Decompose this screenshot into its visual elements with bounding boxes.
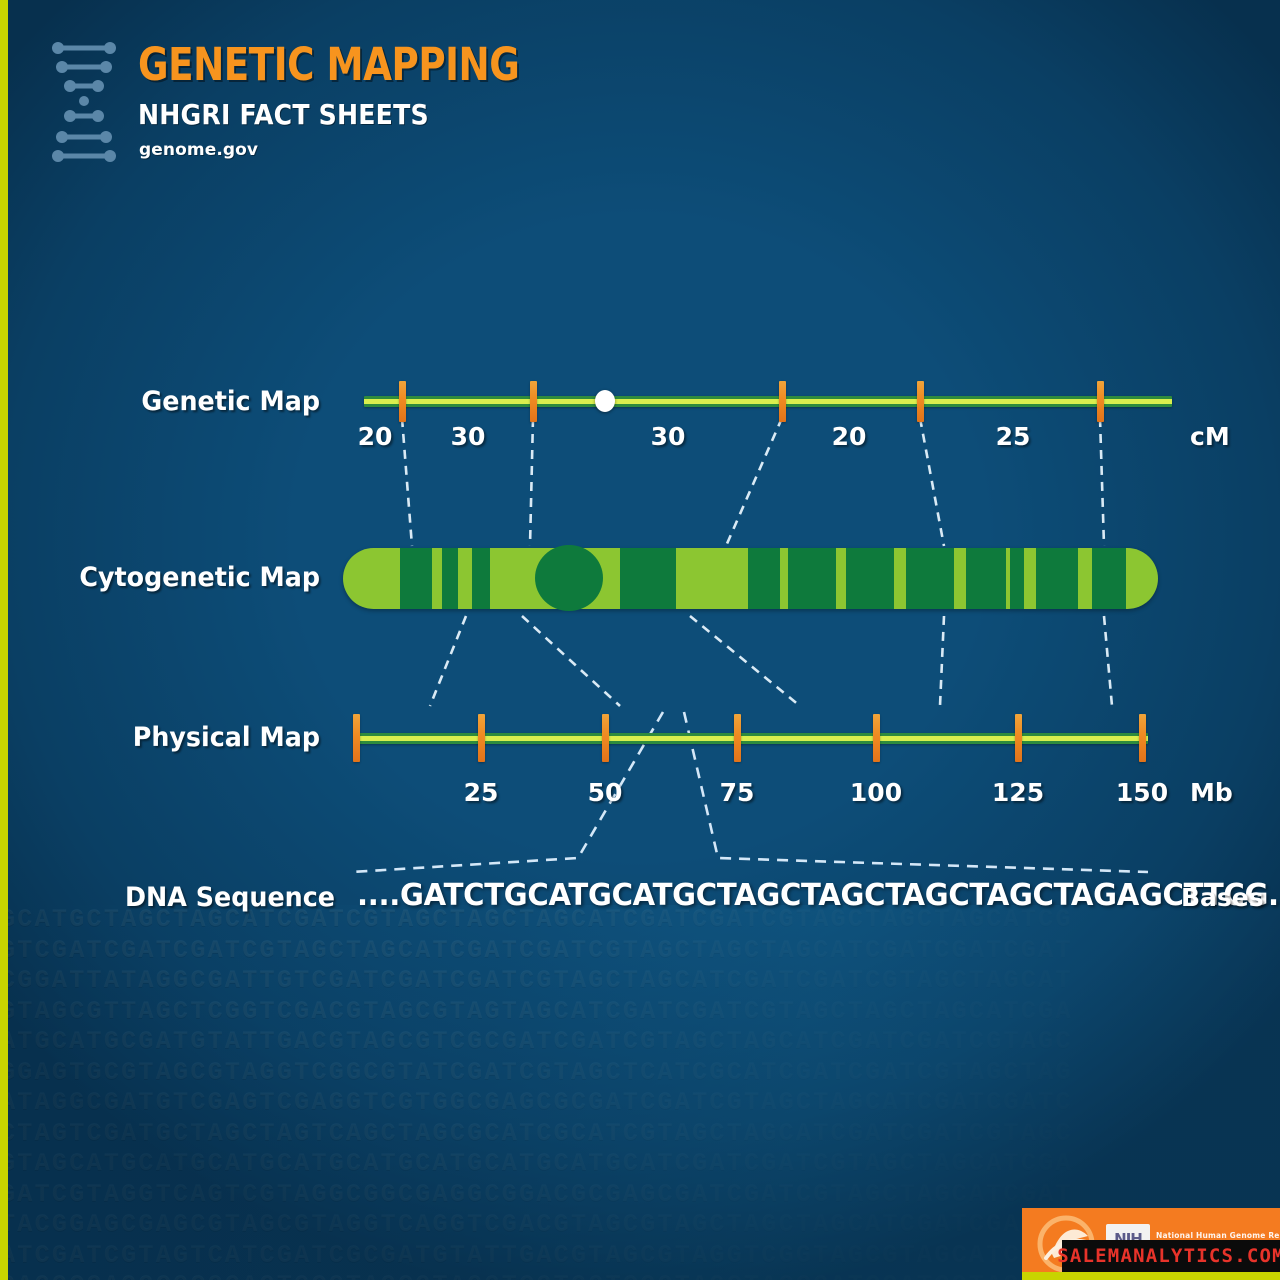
genetic-tick-2 — [779, 381, 786, 422]
nih-caption: National Human Genome Research Institute — [1156, 1231, 1280, 1240]
centromere-icon — [535, 545, 603, 611]
dna-background-line: GGAGTGCGTAGCGTAGGTCGGCGTATCGATCGTAGCTCAT… — [0, 1058, 1280, 1089]
chromosome-band-10 — [1036, 548, 1078, 609]
chromosome-band-11 — [1092, 548, 1126, 609]
dna-background-line: CGGATTATAGGCGATTGTCGATCGATCGATCGTAGCTAGC… — [0, 966, 1280, 997]
physical-tick-label-1: 50 — [588, 778, 623, 807]
footer-underline — [1022, 1272, 1280, 1280]
chromosome-band-9 — [1010, 548, 1024, 609]
chromosome-band-1 — [442, 548, 458, 609]
physical-tick-0 — [353, 714, 360, 762]
genetic-tick-1 — [530, 381, 537, 422]
left-edge-accent-strip — [0, 0, 8, 1280]
physical-tick-label-4: 125 — [992, 778, 1044, 807]
cytogenetic-map-label: Cytogenetic Map — [19, 562, 320, 593]
genetic-map-line-core — [364, 399, 1172, 404]
dna-sequence-text: ....GATCTGCATGCATGCTAGCTAGCTAGCTAGCTAGAG… — [357, 878, 1280, 913]
dna-background-line: GTAGCATGCATGCATGCATGCATGCATGCATGCATGCATC… — [0, 1149, 1280, 1180]
genetic-interval-label-4: 25 — [996, 422, 1031, 451]
physical-tick-3 — [734, 714, 741, 762]
chromosome-ideogram — [343, 548, 1158, 609]
genetic-tick-4 — [1097, 381, 1104, 422]
dna-sequence-label: DNA Sequence — [20, 882, 335, 913]
chromosome-band-3 — [620, 548, 676, 609]
genetic-interval-label-3: 20 — [832, 422, 867, 451]
dna-background-line: GTCGATCGATCGATCGTAGCTAGCATCGATCGATCGTAGC… — [0, 936, 1280, 967]
chromosome-band-8 — [966, 548, 1006, 609]
physical-map-label: Physical Map — [19, 722, 320, 753]
physical-tick-6 — [1139, 714, 1146, 762]
chromosome-band-7 — [906, 548, 954, 609]
genetic-unit-label: cM — [1190, 422, 1230, 451]
physical-tick-label-5: 150 — [1116, 778, 1168, 807]
page-subtitle: NHGRI FACT SHEETS — [138, 98, 429, 131]
site-url: genome.gov — [139, 140, 258, 160]
physical-unit-label: Mb — [1190, 778, 1233, 807]
chromosome-band-2 — [472, 548, 490, 609]
genetic-interval-label-1: 30 — [451, 422, 486, 451]
chromosome-band-0 — [400, 548, 432, 609]
genetic-interval-label-2: 30 — [651, 422, 686, 451]
infographic-canvas: GCATGCTAGCTAGCATCGATCGTAGCTAGCTAGCATCGAT… — [0, 0, 1280, 1280]
genetic-tick-0 — [399, 381, 406, 422]
page-title: GENETIC MAPPING — [138, 38, 519, 91]
genetic-map-line — [364, 396, 1172, 407]
physical-tick-1 — [478, 714, 485, 762]
genetic-map-label: Genetic Map — [19, 386, 320, 417]
chromosome-band-4 — [748, 548, 780, 609]
watermark-text: SALEMANALYTICS.COM — [1057, 1245, 1280, 1267]
physical-tick-2 — [602, 714, 609, 762]
genetic-interval-label-0: 20 — [358, 422, 393, 451]
watermark-badge: SALEMANALYTICS.COM — [1062, 1240, 1280, 1272]
chromosome-band-5 — [788, 548, 836, 609]
physical-map-line-core — [355, 736, 1148, 741]
dna-background-line: CTAGTCGATGCTAGCTAGTCAGCTAGCGCATCGCATCGTA… — [0, 1119, 1280, 1150]
physical-tick-label-3: 100 — [850, 778, 902, 807]
physical-tick-label-0: 25 — [464, 778, 499, 807]
dna-background-line: GTAGCGTTAGCTCGGTCGACGTAGCGTAGTAGCATCGATC… — [0, 997, 1280, 1028]
chromosome-band-6 — [846, 548, 894, 609]
physical-map-line — [355, 733, 1148, 744]
physical-tick-5 — [1015, 714, 1022, 762]
physical-tick-4 — [873, 714, 880, 762]
dna-background-line: GATCGTAGGTCAGTCGTAGGCGGCGAGGCGGACGCGAGCG… — [0, 1180, 1280, 1211]
dna-background-line: ATGCATGCGATGTATTGACGTAGCGTCGCGATCGATCGTA… — [0, 1027, 1280, 1058]
dna-ladder-icon — [48, 38, 122, 166]
genetic-tick-3 — [917, 381, 924, 422]
physical-tick-label-2: 75 — [720, 778, 755, 807]
genetic-marker-dot — [595, 390, 615, 412]
bases-unit-label: Bases — [1181, 883, 1264, 912]
dna-background-line: ATAGGCGATGTCGAGTCGAGGTCGTGGCGAGCGCGATCGA… — [0, 1088, 1280, 1119]
